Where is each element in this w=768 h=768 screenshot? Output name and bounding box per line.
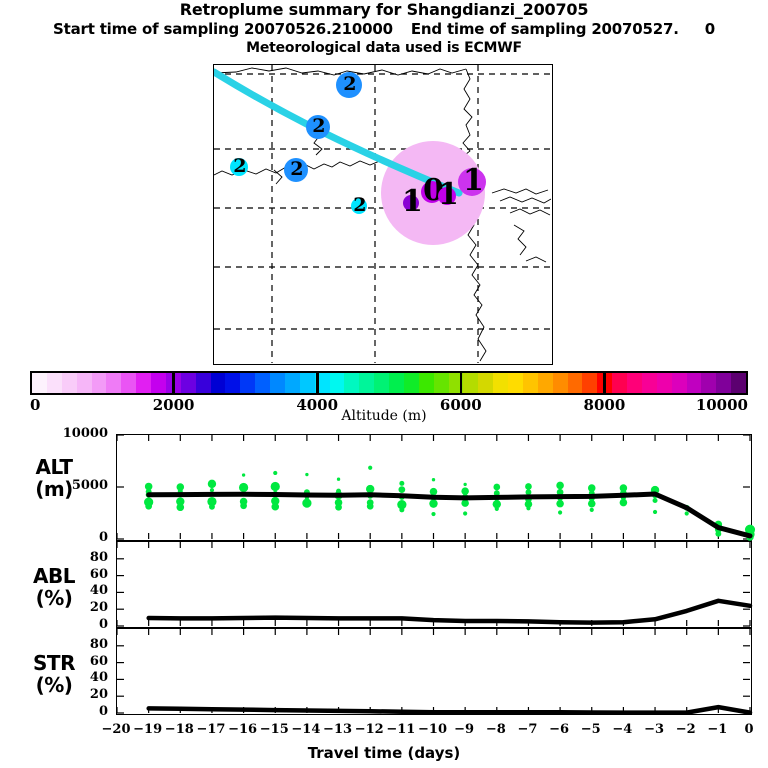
colorbar-swatch [225, 373, 240, 393]
alt-scatter-point [463, 511, 467, 515]
alt-scatter-point [493, 484, 500, 491]
altitude-colorbar[interactable]: 0200040006000800010000 [30, 371, 748, 395]
alt-scatter-point [210, 488, 214, 492]
x-tick-label: −13 [321, 722, 355, 737]
alt-scatter-point [432, 478, 435, 481]
colorbar-swatch [300, 373, 315, 393]
alt-scatter-point [208, 480, 216, 488]
abl-chart[interactable] [116, 541, 752, 628]
map-marker-label: 1 [402, 187, 423, 217]
colorbar-swatch [77, 373, 92, 393]
abl-plot-area [117, 542, 750, 626]
alt-scatter-point [558, 510, 562, 514]
met-data-line: Meteorological data used is ECMWF [0, 39, 768, 57]
x-tick-label: −3 [637, 722, 671, 737]
x-tick-label: −20 [99, 722, 133, 737]
colorbar-swatch [211, 373, 226, 393]
end-time-value: 20070527. [591, 20, 678, 38]
colorbar-swatch [657, 373, 672, 393]
map-marker-label: 1 [438, 180, 459, 210]
colorbar-swatch [716, 373, 731, 393]
alt-scatter-point [715, 531, 721, 537]
alt-scatter-point [399, 481, 404, 486]
title-block: Retroplume summary for Shangdianzi_20070… [0, 0, 768, 57]
alt-scatter-point [588, 500, 596, 508]
colorbar-swatch [270, 373, 285, 393]
map-marker-label: 2 [290, 160, 303, 179]
alt-scatter-point [271, 482, 280, 491]
colorbar-swatch [701, 373, 716, 393]
colorbar-swatch [419, 373, 434, 393]
alt-scatter-point [431, 512, 435, 516]
map-grid [214, 65, 551, 363]
alt-scatter-point [495, 507, 499, 511]
alt-scatter-point [526, 506, 530, 510]
alt-scatter-point [240, 502, 247, 509]
y-tick-label: 80 [62, 637, 108, 652]
alt-scatter-point [463, 483, 466, 486]
colorbar-divider [316, 371, 319, 395]
start-time-value: 20070526.210000 [244, 20, 393, 38]
start-time-label: Start time of sampling [53, 20, 239, 38]
alt-scatter-point [429, 499, 437, 507]
map-marker-label: 2 [312, 117, 325, 136]
colorbar-swatch [389, 373, 404, 393]
alt-scatter-point [177, 504, 185, 512]
x-tick-label: −8 [479, 722, 513, 737]
alt-scatter-point [337, 478, 340, 481]
x-tick-label: −16 [226, 722, 260, 737]
colorbar-swatch [330, 373, 345, 393]
alt-scatter-point [242, 473, 245, 476]
colorbar-swatch [181, 373, 196, 393]
colorbar-swatch [151, 373, 166, 393]
colorbar-swatch [642, 373, 657, 393]
colorbar-swatch [538, 373, 553, 393]
colorbar-swatch [285, 373, 300, 393]
x-tick-label: −5 [574, 722, 608, 737]
colorbar-swatch [344, 373, 359, 393]
x-tick-label: −18 [162, 722, 196, 737]
y-tick-label: 80 [62, 550, 108, 565]
colorbar-swatch [121, 373, 136, 393]
colorbar-swatch [136, 373, 151, 393]
alt-scatter-point [367, 503, 374, 510]
alt-scatter-point [461, 499, 469, 507]
alt-scatter-point [653, 510, 657, 514]
map-marker-label: 2 [233, 157, 246, 176]
colorbar-gradient [30, 371, 748, 395]
alt-scatter-point [653, 498, 658, 503]
map-graphics [214, 65, 551, 363]
str-plot-area [117, 629, 750, 713]
alt-scatter-point [368, 466, 372, 470]
y-tick-label: 20 [62, 600, 108, 615]
colorbar-swatch [508, 373, 523, 393]
colorbar-divider [172, 371, 175, 395]
x-tick-label: −14 [289, 722, 323, 737]
x-tick-label: −10 [416, 722, 450, 737]
page-title: Retroplume summary for Shangdianzi_20070… [0, 0, 768, 20]
alt-label-line1: ALT [6, 456, 102, 478]
colorbar-axis-title: Altitude (m) [0, 408, 768, 424]
alt-scatter-point [525, 483, 532, 490]
colorbar-swatch [434, 373, 449, 393]
x-tick-label: −11 [384, 722, 418, 737]
colorbar-swatch [404, 373, 419, 393]
str-chart[interactable] [116, 628, 752, 715]
alt-scatter-point [556, 482, 564, 490]
colorbar-swatch [627, 373, 642, 393]
x-tick-label: −12 [352, 722, 386, 737]
y-tick-label: 60 [62, 567, 108, 582]
x-tick-label: −15 [257, 722, 291, 737]
colorbar-swatch [62, 373, 77, 393]
y-tick-label: 20 [62, 687, 108, 702]
x-tick-label: −7 [510, 722, 544, 737]
alt-scatter-point [273, 471, 277, 475]
map-marker-label: 2 [343, 75, 356, 94]
x-tick-label: −17 [194, 722, 228, 737]
colorbar-swatch [568, 373, 583, 393]
x-axis-tick-labels: −20−19−18−17−16−15−14−13−12−11−10−9−8−7−… [0, 722, 768, 740]
alt-plot-area [117, 435, 750, 539]
x-tick-label: −4 [605, 722, 639, 737]
colorbar-swatch [463, 373, 478, 393]
alt-chart[interactable] [116, 434, 752, 541]
x-tick-label: −2 [669, 722, 703, 737]
colorbar-divider [460, 371, 463, 395]
alt-scatter-point [398, 486, 405, 493]
y-tick-label: 60 [62, 654, 108, 669]
alt-scatter-point [302, 499, 311, 508]
y-tick-label: 0 [62, 530, 108, 545]
retroplume-map[interactable]: 222220111 [213, 64, 553, 365]
map-marker-label: 2 [353, 196, 366, 215]
alt-scatter-point [685, 511, 689, 515]
colorbar-swatch [255, 373, 270, 393]
colorbar-swatch [374, 373, 389, 393]
colorbar-swatch [612, 373, 627, 393]
alt-scatter-point [271, 503, 279, 511]
colorbar-swatch [47, 373, 62, 393]
colorbar-swatch [240, 373, 255, 393]
end-time-label: End time of sampling [411, 20, 586, 38]
y-tick-label: 40 [62, 583, 108, 598]
y-tick-label: 5000 [62, 478, 108, 493]
coastline-paths [214, 68, 551, 361]
sampling-time-line: Start time of sampling 20070526.210000En… [0, 20, 768, 39]
colorbar-swatch [32, 373, 47, 393]
alt-scatter-point [399, 507, 404, 512]
alt-scatter-point [305, 473, 308, 476]
str-line [149, 707, 750, 713]
alt-scatter-point [590, 508, 594, 512]
colorbar-swatch [523, 373, 538, 393]
colorbar-swatch [553, 373, 568, 393]
colorbar-swatch [582, 373, 597, 393]
y-tick-label: 0 [62, 704, 108, 719]
colorbar-swatch [731, 373, 746, 393]
end-time-value-2: 0 [705, 20, 715, 38]
colorbar-divider [603, 371, 606, 395]
colorbar-swatch [359, 373, 374, 393]
x-tick-label: 0 [732, 722, 766, 737]
alt-scatter-point [366, 485, 374, 493]
colorbar-swatch [92, 373, 107, 393]
y-tick-label: 10000 [62, 426, 108, 441]
y-tick-label: 0 [62, 617, 108, 632]
colorbar-swatch [106, 373, 121, 393]
alt-scatter-point [430, 488, 438, 496]
colorbar-swatch [687, 373, 702, 393]
colorbar-swatch [478, 373, 493, 393]
x-tick-label: −19 [131, 722, 165, 737]
alt-scatter-point [209, 504, 215, 510]
map-marker-label: 1 [463, 166, 484, 196]
alt-scatter-point [145, 503, 152, 510]
alt-scatter-point [335, 504, 342, 511]
x-tick-label: −1 [700, 722, 734, 737]
y-tick-label: 40 [62, 670, 108, 685]
alt-scatter-point [620, 499, 628, 507]
abl-line [149, 601, 750, 623]
colorbar-swatch [196, 373, 211, 393]
alt-scatter-point [526, 489, 532, 495]
colorbar-swatch [672, 373, 687, 393]
x-tick-label: −9 [447, 722, 481, 737]
x-tick-label: −6 [542, 722, 576, 737]
colorbar-swatch [493, 373, 508, 393]
alt-scatter-point [556, 500, 564, 508]
alt-mean-line [149, 494, 750, 536]
x-axis-title: Travel time (days) [0, 744, 768, 762]
alt-scatter-point [461, 487, 469, 495]
